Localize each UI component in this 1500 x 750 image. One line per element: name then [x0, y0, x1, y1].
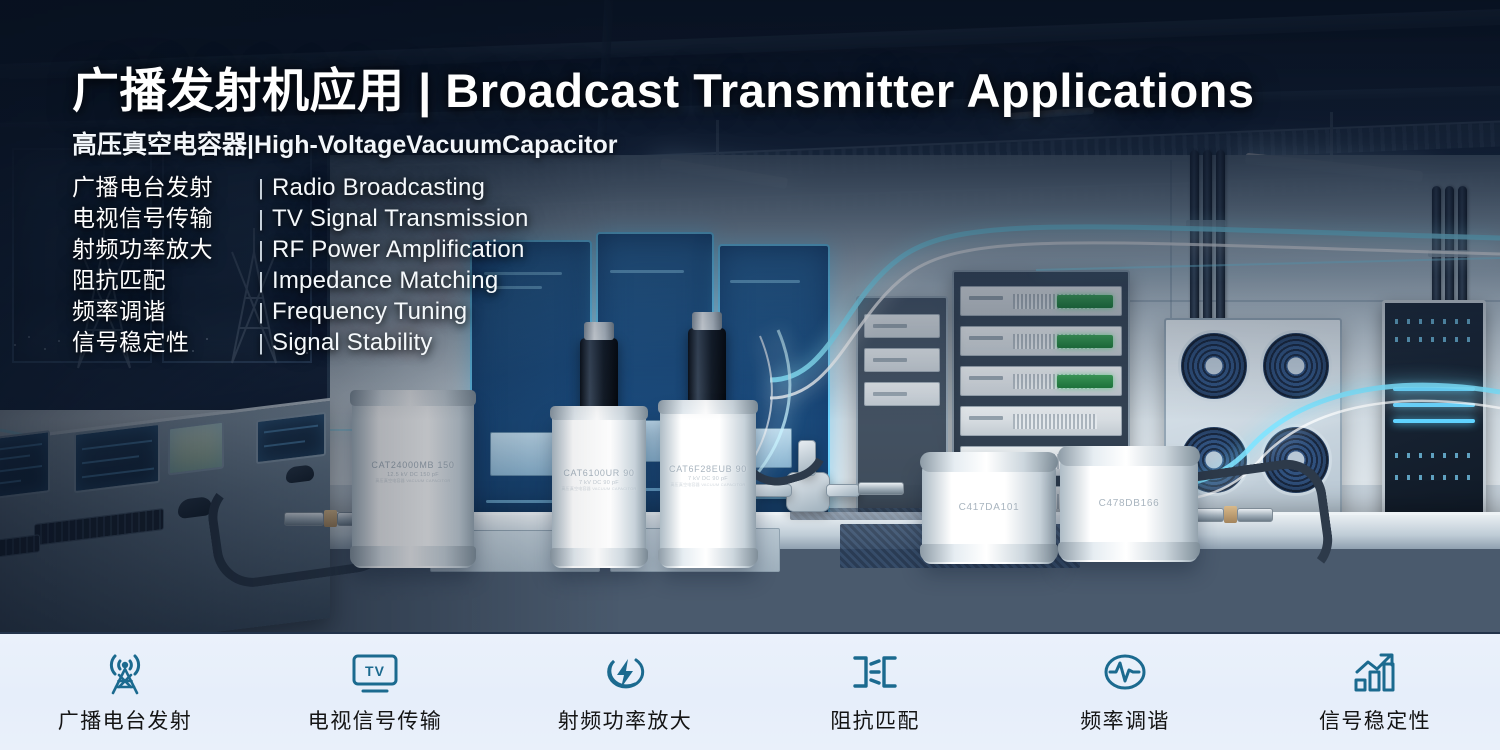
feature-label-en: Radio Broadcasting [272, 174, 485, 202]
feature-row: 频率调谐 | Frequency Tuning [72, 292, 529, 323]
vacuum-capacitor-puck-1: C417DA101 [922, 452, 1056, 564]
coax-connector [284, 512, 324, 526]
vacuum-capacitor-large: CAT24000MB 150 12.5 kV DC 150 pF 高压真空电容器… [352, 390, 474, 568]
product-desc: 高压真空电容器 VACUUM CAPACITOR [660, 482, 756, 488]
feature-row: 电视信号传输 | TV Signal Transmission [72, 199, 529, 230]
application-icon-bar: 广播电台发射 TV 电视信号传输 射频功率放大 [0, 632, 1500, 750]
feature-label-en: TV Signal Transmission [272, 205, 529, 233]
icon-item-label: 信号稳定性 [1319, 705, 1431, 735]
coax-connector [1237, 508, 1273, 522]
conduit-clip [1186, 220, 1226, 227]
feature-label-cn: 阻抗匹配 [72, 261, 250, 295]
console-monitor[interactable] [74, 423, 160, 494]
product-code: C478DB166 [1099, 498, 1160, 509]
feature-label-en: Frequency Tuning [272, 298, 467, 326]
broadcast-transmitter-banner: CAT24000MB 150 12.5 kV DC 150 pF 高压真空电容器… [0, 0, 1500, 750]
icon-item-frequency-tuning[interactable]: 频率调谐 [1000, 650, 1250, 735]
page-title-cn: 广播发射机应用 [72, 64, 405, 117]
feature-label-cn: 信号稳定性 [72, 323, 250, 357]
glass-door-cabinet [1382, 300, 1486, 522]
icon-item-label: 频率调谐 [1080, 705, 1170, 735]
coax-nut [1224, 506, 1237, 523]
feature-label-cn: 频率调谐 [72, 292, 250, 326]
feature-row: 射频功率放大 | RF Power Amplification [72, 230, 529, 261]
page-subtitle: 高压真空电容器|High-VoltageVacuumCapacitor [72, 125, 1255, 161]
icon-item-label: 阻抗匹配 [830, 705, 920, 735]
title-divider: | [418, 64, 432, 117]
product-code: CAT6F28EUB 90 [669, 464, 747, 474]
feature-label-en: RF Power Amplification [272, 236, 525, 264]
waveform-circle-icon [1099, 650, 1151, 696]
valve-port [752, 484, 792, 497]
icon-item-label: 射频功率放大 [558, 705, 692, 735]
feature-label-cn: 电视信号传输 [72, 199, 250, 233]
power-bolt-circle-icon [599, 650, 651, 696]
feature-divider: | [250, 299, 272, 325]
vacuum-capacitor-puck-2: C478DB166 [1060, 446, 1198, 562]
feature-row: 信号稳定性 | Signal Stability [72, 323, 529, 354]
feature-divider: | [250, 237, 272, 263]
header-block: 广播发射机应用 | Broadcast Transmitter Applicat… [72, 52, 1255, 161]
coax-connector [858, 482, 904, 495]
feature-divider: | [250, 206, 272, 232]
icon-item-rf-amplification[interactable]: 射频功率放大 [500, 650, 750, 735]
coax-nut [324, 510, 337, 527]
icon-item-tv-transmission[interactable]: TV 电视信号传输 [250, 650, 500, 735]
product-code: CAT24000MB 150 [371, 460, 454, 470]
feature-divider: | [250, 268, 272, 294]
vacuum-capacitor-stem-1: CAT6100UR 90 7 kV DC 90 pF 高压真空电容器 VACUU… [552, 406, 646, 568]
page-title-en: Broadcast Transmitter Applications [445, 64, 1254, 117]
product-code: CAT6100UR 90 [563, 468, 634, 478]
feature-label-cn: 射频功率放大 [72, 230, 250, 264]
feature-divider: | [250, 330, 272, 356]
console-monitor[interactable] [0, 430, 50, 500]
icon-item-label: 广播电台发射 [58, 705, 192, 735]
feature-row: 广播电台发射 | Radio Broadcasting [72, 168, 529, 199]
console-display-panel[interactable] [168, 421, 224, 476]
product-desc: 高压真空电容器 VACUUM CAPACITOR [352, 478, 474, 484]
icon-item-radio-broadcasting[interactable]: 广播电台发射 [0, 650, 250, 735]
vacuum-capacitor-stem-2: CAT6F28EUB 90 7 kV DC 90 pF 高压真空电容器 VACU… [660, 400, 756, 568]
conduit-clip [1428, 250, 1468, 257]
product-code: C417DA101 [959, 502, 1020, 513]
feature-divider: | [250, 175, 272, 201]
feature-label-en: Impedance Matching [272, 267, 498, 295]
feature-label-en: Signal Stability [272, 329, 433, 357]
svg-text:TV: TV [365, 663, 385, 679]
feature-label-cn: 广播电台发射 [72, 168, 250, 202]
feature-row: 阻抗匹配 | Impedance Matching [72, 261, 529, 292]
icon-item-impedance-matching[interactable]: 阻抗匹配 [750, 650, 1000, 735]
console-monitor[interactable] [256, 412, 326, 465]
bar-chart-arrow-icon [1348, 650, 1402, 696]
tv-screen-icon: TV [348, 650, 402, 696]
cooling-fan [1178, 330, 1250, 402]
page-title: 广播发射机应用 | Broadcast Transmitter Applicat… [72, 52, 1255, 121]
icon-item-label: 电视信号传输 [308, 705, 442, 735]
impedance-match-icon [847, 650, 903, 696]
radio-tower-icon [99, 650, 151, 696]
cooling-fan [1260, 330, 1332, 402]
icon-item-signal-stability[interactable]: 信号稳定性 [1250, 650, 1500, 735]
valve-port [826, 484, 860, 497]
application-feature-list: 广播电台发射 | Radio Broadcasting 电视信号传输 | TV … [72, 168, 529, 354]
product-desc: 高压真空电容器 VACUUM CAPACITOR [552, 486, 646, 492]
